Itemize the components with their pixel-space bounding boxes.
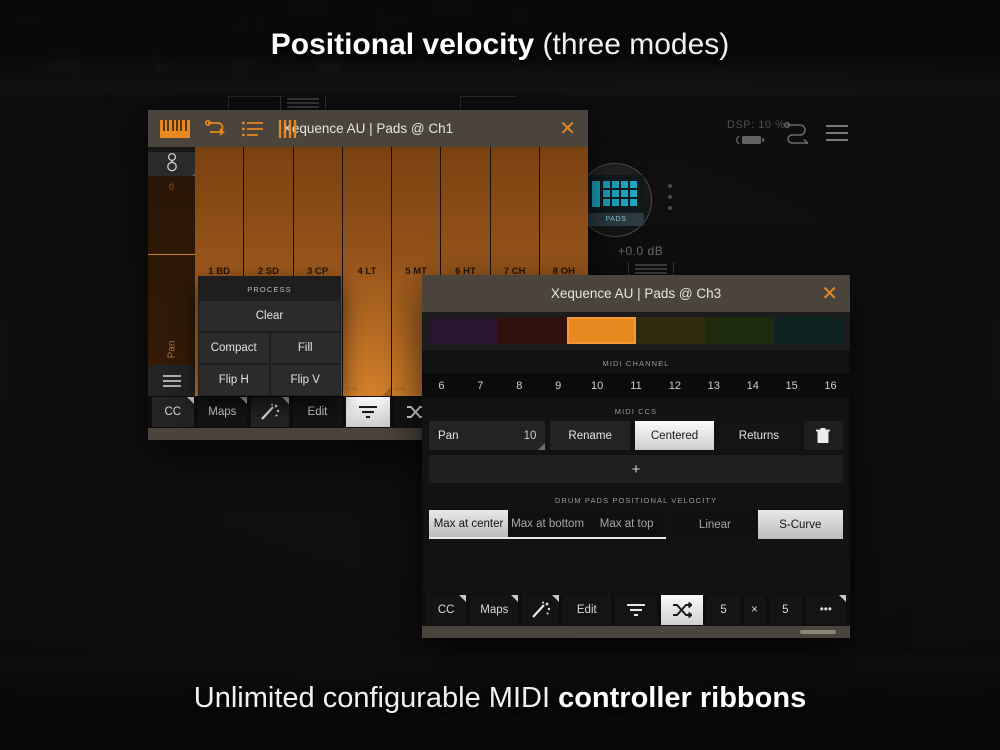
more-button[interactable]: •••	[806, 595, 846, 625]
cc-name-field[interactable]: Pan 10	[429, 421, 545, 450]
cc-name: Pan	[438, 430, 458, 442]
multiply-symbol: ×	[744, 595, 765, 625]
process-popup: PROCESS Clear Compact Fill Flip H Flip V	[198, 276, 341, 396]
close-icon[interactable]: ✕	[559, 119, 576, 139]
cc-number: 10	[524, 430, 537, 442]
mode-max-at-center[interactable]: Max at center	[429, 510, 508, 537]
bottom-caption-bold: controller ribbons	[558, 682, 806, 714]
bottom-caption-light: Unlimited configurable MIDI	[194, 682, 558, 714]
window2-resize-bar[interactable]	[422, 626, 850, 638]
pan-ribbon-line	[148, 254, 195, 255]
curve-s-curve[interactable]: S-Curve	[758, 510, 843, 539]
velocity-mode-group: Max at center Max at bottom Max at top	[429, 510, 666, 539]
mode-max-at-top[interactable]: Max at top	[587, 510, 666, 537]
positional-velocity-controls: Max at center Max at bottom Max at top L…	[422, 510, 850, 539]
midi-channel-option[interactable]: 16	[811, 373, 850, 398]
midi-channel-option[interactable]: 6	[422, 373, 461, 398]
clear-button[interactable]: Clear	[199, 301, 340, 331]
color-swatch[interactable]	[429, 317, 498, 344]
keyboard-icon[interactable]	[160, 120, 190, 138]
pad-label: 4 LT	[343, 266, 391, 277]
window2-title: Xequence AU | Pads @ Ch3	[422, 286, 850, 301]
pan-ribbon-label: Pan	[166, 341, 177, 359]
mode-max-at-bottom[interactable]: Max at bottom	[508, 510, 587, 537]
pad-cell[interactable]: 4 LT G#4	[343, 147, 392, 396]
midi-ccs-label: MIDI CCS	[422, 398, 850, 421]
fill-button[interactable]: Fill	[271, 333, 341, 363]
midi-channel-option[interactable]: 12	[655, 373, 694, 398]
cc-tab[interactable]: CC	[152, 397, 194, 427]
window2-toolbar: CC Maps Edit	[422, 594, 850, 626]
color-swatches	[422, 312, 850, 350]
bars-count-field[interactable]: 5	[769, 595, 802, 625]
window1-sidebar: 0 Pan	[148, 147, 195, 396]
window2-titlebar[interactable]: Xequence AU | Pads @ Ch3 ✕	[422, 275, 850, 312]
midi-channel-selector: 6 7 8 9 10 11 12 13 14 15 16	[422, 373, 850, 398]
window1-titlebar[interactable]: Xequence AU | Pads @ Ch1 ✕	[148, 110, 588, 147]
flip-h-button[interactable]: Flip H	[199, 365, 269, 395]
color-swatch[interactable]	[636, 317, 705, 344]
process-popup-title: PROCESS	[198, 276, 341, 300]
edit-tab[interactable]: Edit	[563, 595, 611, 625]
midi-channel-option[interactable]: 14	[733, 373, 772, 398]
close-icon[interactable]: ✕	[821, 284, 838, 304]
wand-icon[interactable]	[522, 595, 558, 625]
wand-icon[interactable]	[251, 397, 289, 427]
filter-icon[interactable]	[346, 397, 390, 427]
cc-tab[interactable]: CC	[426, 595, 466, 625]
shuffle-icon[interactable]	[661, 595, 703, 625]
top-caption-light: (three modes)	[534, 28, 729, 61]
add-cc-button[interactable]: +	[429, 455, 843, 483]
ribbons-icon[interactable]	[278, 120, 298, 138]
compact-button[interactable]: Compact	[199, 333, 269, 363]
pan-ribbon[interactable]: 0 Pan	[148, 176, 195, 365]
color-swatch[interactable]	[705, 317, 774, 344]
midi-channel-option[interactable]: 10	[578, 373, 617, 398]
color-swatch[interactable]	[498, 317, 567, 344]
flip-v-button[interactable]: Flip V	[271, 365, 341, 395]
steps-count-field[interactable]: 5	[707, 595, 740, 625]
midi-channel-label: MIDI CHANNEL	[422, 350, 850, 373]
midi-channel-option[interactable]: 8	[500, 373, 539, 398]
bottom-caption: Unlimited configurable MIDI controller r…	[0, 682, 1000, 715]
maps-tab[interactable]: Maps	[198, 397, 248, 427]
color-swatch[interactable]	[774, 317, 843, 344]
pad-note: A#4	[395, 387, 406, 393]
color-swatch-selected[interactable]	[567, 317, 636, 344]
returns-button[interactable]: Returns	[719, 421, 798, 450]
midi-channel-option[interactable]: 13	[694, 373, 733, 398]
curve-linear[interactable]: Linear	[672, 510, 757, 539]
maps-tab[interactable]: Maps	[470, 595, 518, 625]
list-icon[interactable]	[242, 121, 264, 137]
positional-velocity-label: DRUM PADS POSITIONAL VELOCITY	[422, 483, 850, 510]
top-caption: Positional velocity (three modes)	[0, 28, 1000, 62]
filter-icon[interactable]	[615, 595, 657, 625]
centered-button[interactable]: Centered	[635, 421, 714, 450]
midi-channel-option[interactable]: 7	[461, 373, 500, 398]
top-caption-bold: Positional velocity	[271, 28, 534, 61]
window2-body: MIDI CHANNEL 6 7 8 9 10 11 12 13 14 15 1…	[422, 312, 850, 539]
routing-icon[interactable]	[204, 119, 228, 139]
edit-tab[interactable]: Edit	[293, 397, 343, 427]
plugin-window-pads-ch3: Xequence AU | Pads @ Ch3 ✕ MIDI CHANNEL …	[422, 275, 850, 638]
screenshot-root: 120 001:1:1 00:00.0 ◁〈 ▷▸ ↺	[0, 0, 1000, 750]
velocity-curve-group: Linear S-Curve	[672, 510, 843, 539]
sidebar-menu-button[interactable]	[148, 365, 195, 396]
window2-resize-grip[interactable]	[800, 630, 836, 634]
midi-cc-row: Pan 10 Rename Centered Returns	[422, 421, 850, 450]
midi-channel-option[interactable]: 11	[617, 373, 656, 398]
pad-note: G#4	[346, 387, 357, 393]
midi-channel-option[interactable]: 9	[539, 373, 578, 398]
midi-channel-option[interactable]: 15	[772, 373, 811, 398]
pan-ribbon-value: 0	[148, 182, 195, 192]
trash-icon[interactable]	[804, 421, 843, 450]
rename-button[interactable]: Rename	[550, 421, 629, 450]
